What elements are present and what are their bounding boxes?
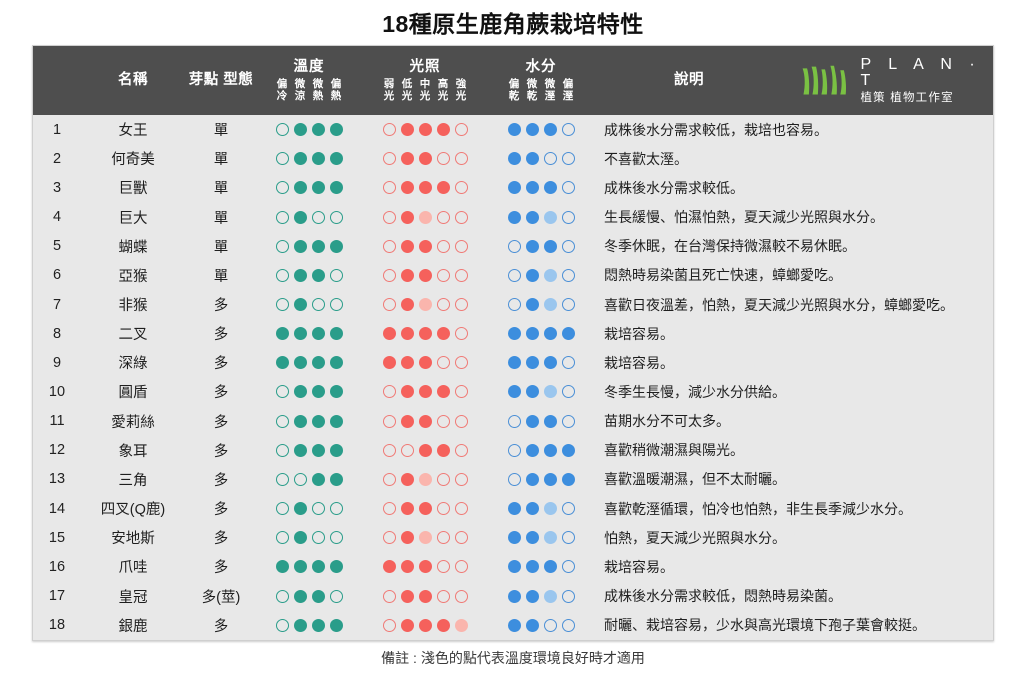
temp-dot-1-empty bbox=[276, 298, 289, 311]
row-description: 悶熱時易染菌且死亡快速，蟑螂愛吃。 bbox=[593, 261, 993, 290]
light-dot-2-full bbox=[401, 619, 414, 632]
water-dot-1-empty bbox=[508, 473, 521, 486]
water-rating bbox=[489, 202, 593, 231]
row-description: 成株後水分需求較低。 bbox=[593, 173, 993, 202]
temp-dot-4-full bbox=[330, 181, 343, 194]
light-rating bbox=[361, 465, 489, 494]
water-dot-2-full bbox=[526, 444, 539, 457]
table-row[interactable]: 1女王單成株後水分需求較低，栽培也容易。 bbox=[33, 115, 993, 144]
light-rating bbox=[361, 232, 489, 261]
water-rating bbox=[489, 290, 593, 319]
light-rating bbox=[361, 115, 489, 144]
water-dot-4-empty bbox=[562, 123, 575, 136]
row-description: 成株後水分需求較低，栽培也容易。 bbox=[593, 115, 993, 144]
light-rating bbox=[361, 611, 489, 640]
water-dot-2-full bbox=[526, 473, 539, 486]
water-dot-2-full bbox=[526, 298, 539, 311]
table-row[interactable]: 17皇冠多(莖)成株後水分需求較低，悶熱時易染菌。 bbox=[33, 582, 993, 611]
light-dot-5-empty bbox=[455, 531, 468, 544]
table-row[interactable]: 4巨大單生長緩慢、怕濕怕熱，夏天減少光照與水分。 bbox=[33, 202, 993, 231]
light-dot-4-empty bbox=[437, 590, 450, 603]
row-description: 栽培容易。 bbox=[593, 319, 993, 348]
water-rating bbox=[489, 144, 593, 173]
row-description: 不喜歡太溼。 bbox=[593, 144, 993, 173]
row-description: 喜歡溫暖潮濕，但不太耐曬。 bbox=[593, 465, 993, 494]
row-index: 4 bbox=[33, 202, 81, 231]
water-dot-4-full bbox=[562, 473, 575, 486]
row-species-name: 女王 bbox=[81, 115, 185, 144]
row-species-name: 蝴蝶 bbox=[81, 232, 185, 261]
light-dot-5-empty bbox=[455, 298, 468, 311]
row-species-name: 亞猴 bbox=[81, 261, 185, 290]
row-bud-type: 多 bbox=[185, 348, 257, 377]
water-dot-4-empty bbox=[562, 415, 575, 428]
row-description: 栽培容易。 bbox=[593, 552, 993, 581]
row-species-name: 非猴 bbox=[81, 290, 185, 319]
row-description: 耐曬、栽培容易，少水與高光環境下孢子葉會較挺。 bbox=[593, 611, 993, 640]
water-dot-4-full bbox=[562, 327, 575, 340]
temp-dot-2-full bbox=[294, 560, 307, 573]
light-dot-3-pale bbox=[419, 211, 432, 224]
logo-subtitle: 植策 植物工作室 bbox=[860, 93, 993, 105]
temp-dot-3-full bbox=[312, 473, 325, 486]
light-dot-5-empty bbox=[455, 269, 468, 282]
light-dot-2-full bbox=[401, 590, 414, 603]
light-dot-4-full bbox=[437, 123, 450, 136]
temp-dot-4-empty bbox=[330, 269, 343, 282]
header-temperature: 溫度 偏冷微涼微熱偏熱 bbox=[257, 46, 361, 115]
light-dot-2-full bbox=[401, 181, 414, 194]
row-index: 16 bbox=[33, 552, 81, 581]
temp-dot-1-empty bbox=[276, 211, 289, 224]
water-dot-4-empty bbox=[562, 531, 575, 544]
temp-dot-2-full bbox=[294, 181, 307, 194]
table-row[interactable]: 11愛莉絲多苗期水分不可太多。 bbox=[33, 407, 993, 436]
header-light: 光照 弱光低光中光高光強光 bbox=[361, 46, 489, 115]
row-species-name: 銀鹿 bbox=[81, 611, 185, 640]
temp-dot-3-empty bbox=[312, 298, 325, 311]
light-dot-1-empty bbox=[383, 269, 396, 282]
header-light-label: 光照 bbox=[361, 55, 489, 76]
sublabel-1: 微涼 bbox=[291, 79, 309, 103]
table-row[interactable]: 15安地斯多怕熱，夏天減少光照與水分。 bbox=[33, 523, 993, 552]
water-dot-1-full bbox=[508, 385, 521, 398]
temp-dot-2-full bbox=[294, 444, 307, 457]
row-species-name: 巨獸 bbox=[81, 173, 185, 202]
light-dot-3-full bbox=[419, 590, 432, 603]
temp-dot-1-empty bbox=[276, 531, 289, 544]
table-row[interactable]: 12象耳多喜歡稍微潮濕與陽光。 bbox=[33, 436, 993, 465]
light-dot-3-full bbox=[419, 385, 432, 398]
row-bud-type: 多 bbox=[185, 407, 257, 436]
table-row[interactable]: 7非猴多喜歡日夜溫差，怕熱，夏天減少光照與水分，蟑螂愛吃。 bbox=[33, 290, 993, 319]
light-dot-3-full bbox=[419, 327, 432, 340]
header-temperature-sublabels: 偏冷微涼微熱偏熱 bbox=[257, 79, 361, 103]
header-water-sublabels: 偏乾微乾微溼偏溼 bbox=[489, 79, 593, 103]
water-dot-3-pale bbox=[544, 211, 557, 224]
water-dot-1-full bbox=[508, 560, 521, 573]
water-dot-3-pale bbox=[544, 502, 557, 515]
temp-rating bbox=[257, 144, 361, 173]
table-row[interactable]: 9深綠多栽培容易。 bbox=[33, 348, 993, 377]
light-dot-5-empty bbox=[455, 123, 468, 136]
water-dot-2-full bbox=[526, 327, 539, 340]
temp-rating bbox=[257, 582, 361, 611]
temp-dot-1-empty bbox=[276, 590, 289, 603]
row-species-name: 愛莉絲 bbox=[81, 407, 185, 436]
temp-dot-3-full bbox=[312, 560, 325, 573]
water-dot-2-full bbox=[526, 269, 539, 282]
water-dot-1-full bbox=[508, 356, 521, 369]
water-dot-4-empty bbox=[562, 298, 575, 311]
temp-rating bbox=[257, 611, 361, 640]
water-rating bbox=[489, 407, 593, 436]
temp-dot-4-full bbox=[330, 415, 343, 428]
light-rating bbox=[361, 290, 489, 319]
light-dot-5-empty bbox=[455, 240, 468, 253]
light-dot-4-empty bbox=[437, 560, 450, 573]
temp-dot-2-full bbox=[294, 502, 307, 515]
row-bud-type: 多 bbox=[185, 523, 257, 552]
table-row[interactable]: 2何奇美單不喜歡太溼。 bbox=[33, 144, 993, 173]
light-dot-1-empty bbox=[383, 415, 396, 428]
water-dot-1-full bbox=[508, 619, 521, 632]
header-name: 名稱 bbox=[81, 46, 185, 115]
light-dot-2-full bbox=[401, 211, 414, 224]
page-title: 18種原生鹿角蕨栽培特性 bbox=[0, 0, 1026, 42]
water-dot-4-empty bbox=[562, 560, 575, 573]
water-dot-2-full bbox=[526, 619, 539, 632]
sublabel-2: 中光 bbox=[416, 79, 434, 103]
temp-dot-1-empty bbox=[276, 152, 289, 165]
row-index: 14 bbox=[33, 494, 81, 523]
temp-dot-4-full bbox=[330, 473, 343, 486]
sublabel-2: 微熱 bbox=[309, 79, 327, 103]
light-dot-1-empty bbox=[383, 473, 396, 486]
water-dot-1-full bbox=[508, 327, 521, 340]
temp-rating bbox=[257, 523, 361, 552]
water-dot-2-full bbox=[526, 385, 539, 398]
table-row[interactable]: 10圓盾多冬季生長慢，減少水分供給。 bbox=[33, 377, 993, 406]
water-dot-1-full bbox=[508, 531, 521, 544]
light-dot-2-full bbox=[401, 502, 414, 515]
table-row[interactable]: 18銀鹿多耐曬、栽培容易，少水與高光環境下孢子葉會較挺。 bbox=[33, 611, 993, 640]
row-index: 12 bbox=[33, 436, 81, 465]
row-species-name: 爪哇 bbox=[81, 552, 185, 581]
temp-dot-3-full bbox=[312, 123, 325, 136]
table-row[interactable]: 14四叉(Q鹿)多喜歡乾溼循環，怕冷也怕熱，非生長季減少水分。 bbox=[33, 494, 993, 523]
water-dot-2-full bbox=[526, 415, 539, 428]
row-description: 喜歡乾溼循環，怕冷也怕熱，非生長季減少水分。 bbox=[593, 494, 993, 523]
temp-rating bbox=[257, 115, 361, 144]
water-dot-2-full bbox=[526, 356, 539, 369]
temp-dot-4-full bbox=[330, 619, 343, 632]
table-row[interactable]: 16爪哇多栽培容易。 bbox=[33, 552, 993, 581]
light-dot-2-full bbox=[401, 356, 414, 369]
light-dot-5-empty bbox=[455, 560, 468, 573]
water-dot-3-full bbox=[544, 473, 557, 486]
water-dot-1-full bbox=[508, 590, 521, 603]
light-dot-1-empty bbox=[383, 211, 396, 224]
temp-rating bbox=[257, 348, 361, 377]
water-dot-2-full bbox=[526, 531, 539, 544]
water-dot-4-empty bbox=[562, 619, 575, 632]
row-bud-type: 單 bbox=[185, 173, 257, 202]
temp-rating bbox=[257, 290, 361, 319]
temp-dot-2-full bbox=[294, 298, 307, 311]
light-dot-1-empty bbox=[383, 240, 396, 253]
temp-dot-4-full bbox=[330, 123, 343, 136]
temp-rating bbox=[257, 377, 361, 406]
row-bud-type: 多 bbox=[185, 319, 257, 348]
light-dot-1-full bbox=[383, 356, 396, 369]
temp-dot-4-empty bbox=[330, 298, 343, 311]
row-species-name: 巨大 bbox=[81, 202, 185, 231]
row-index: 15 bbox=[33, 523, 81, 552]
light-dot-4-full bbox=[437, 181, 450, 194]
light-dot-5-empty bbox=[455, 415, 468, 428]
light-dot-4-empty bbox=[437, 211, 450, 224]
light-dot-1-empty bbox=[383, 531, 396, 544]
row-species-name: 皇冠 bbox=[81, 582, 185, 611]
water-dot-4-empty bbox=[562, 240, 575, 253]
sublabel-1: 微乾 bbox=[523, 79, 541, 103]
temp-dot-2-full bbox=[294, 415, 307, 428]
row-description: 冬季休眠，在台灣保持微濕較不易休眠。 bbox=[593, 232, 993, 261]
temp-dot-3-full bbox=[312, 415, 325, 428]
light-dot-1-full bbox=[383, 560, 396, 573]
water-dot-1-full bbox=[508, 181, 521, 194]
light-rating bbox=[361, 261, 489, 290]
temp-dot-3-full bbox=[312, 269, 325, 282]
temp-dot-4-empty bbox=[330, 590, 343, 603]
table-row[interactable]: 8二叉多栽培容易。 bbox=[33, 319, 993, 348]
temp-dot-2-full bbox=[294, 240, 307, 253]
water-dot-3-pale bbox=[544, 269, 557, 282]
brand-logo: P L A N · T 植策 植物工作室 bbox=[785, 46, 993, 115]
water-dot-2-full bbox=[526, 211, 539, 224]
row-description: 成株後水分需求較低，悶熱時易染菌。 bbox=[593, 582, 993, 611]
row-species-name: 四叉(Q鹿) bbox=[81, 494, 185, 523]
water-dot-4-empty bbox=[562, 356, 575, 369]
temp-dot-4-empty bbox=[330, 211, 343, 224]
header-name-label: 名稱 bbox=[118, 71, 148, 89]
row-description: 栽培容易。 bbox=[593, 348, 993, 377]
row-index: 11 bbox=[33, 407, 81, 436]
temp-dot-1-full bbox=[276, 356, 289, 369]
table-row[interactable]: 3巨獸單成株後水分需求較低。 bbox=[33, 173, 993, 202]
water-dot-3-full bbox=[544, 240, 557, 253]
row-index: 3 bbox=[33, 173, 81, 202]
light-dot-1-full bbox=[383, 327, 396, 340]
row-index: 10 bbox=[33, 377, 81, 406]
row-index: 17 bbox=[33, 582, 81, 611]
light-dot-2-full bbox=[401, 560, 414, 573]
row-description: 喜歡日夜溫差，怕熱，夏天減少光照與水分，蟑螂愛吃。 bbox=[593, 290, 993, 319]
light-dot-2-full bbox=[401, 473, 414, 486]
water-rating bbox=[489, 436, 593, 465]
row-description: 生長緩慢、怕濕怕熱，夏天減少光照與水分。 bbox=[593, 202, 993, 231]
light-dot-3-full bbox=[419, 619, 432, 632]
water-rating bbox=[489, 115, 593, 144]
sublabel-4: 強光 bbox=[452, 79, 470, 103]
light-rating bbox=[361, 173, 489, 202]
temp-dot-3-full bbox=[312, 385, 325, 398]
water-dot-3-pale bbox=[544, 298, 557, 311]
temp-dot-1-empty bbox=[276, 240, 289, 253]
temp-dot-3-full bbox=[312, 327, 325, 340]
temp-dot-2-full bbox=[294, 590, 307, 603]
water-dot-1-full bbox=[508, 123, 521, 136]
light-rating bbox=[361, 377, 489, 406]
temp-rating bbox=[257, 436, 361, 465]
header-bud-line1: 芽點 bbox=[189, 72, 219, 88]
temp-rating bbox=[257, 319, 361, 348]
temp-dot-1-empty bbox=[276, 269, 289, 282]
light-rating bbox=[361, 407, 489, 436]
water-rating bbox=[489, 261, 593, 290]
header-bud-line2: 型態 bbox=[223, 72, 253, 88]
temp-dot-2-full bbox=[294, 619, 307, 632]
water-rating bbox=[489, 611, 593, 640]
header-description: 說明 bbox=[593, 46, 785, 115]
temp-dot-4-full bbox=[330, 560, 343, 573]
row-bud-type: 單 bbox=[185, 115, 257, 144]
row-bud-type: 多 bbox=[185, 552, 257, 581]
light-dot-5-empty bbox=[455, 181, 468, 194]
temp-dot-2-full bbox=[294, 356, 307, 369]
sublabel-0: 弱光 bbox=[380, 79, 398, 103]
light-dot-2-full bbox=[401, 152, 414, 165]
temp-dot-2-full bbox=[294, 211, 307, 224]
row-description: 喜歡稍微潮濕與陽光。 bbox=[593, 436, 993, 465]
light-dot-2-full bbox=[401, 531, 414, 544]
temp-dot-4-full bbox=[330, 152, 343, 165]
light-rating bbox=[361, 319, 489, 348]
temp-dot-2-full bbox=[294, 531, 307, 544]
water-dot-2-full bbox=[526, 590, 539, 603]
temp-dot-4-empty bbox=[330, 531, 343, 544]
water-rating bbox=[489, 348, 593, 377]
water-dot-4-empty bbox=[562, 502, 575, 515]
temp-dot-3-empty bbox=[312, 211, 325, 224]
light-dot-5-empty bbox=[455, 152, 468, 165]
water-dot-4-empty bbox=[562, 211, 575, 224]
table-header-row: 名稱 芽點 型態 溫度 偏冷微涼微熱偏熱 光照 弱光低光中光高光強光 bbox=[33, 46, 993, 115]
temp-dot-1-empty bbox=[276, 181, 289, 194]
light-dot-5-empty bbox=[455, 444, 468, 457]
temp-dot-3-full bbox=[312, 240, 325, 253]
light-dot-3-full bbox=[419, 356, 432, 369]
water-dot-1-empty bbox=[508, 269, 521, 282]
water-rating bbox=[489, 465, 593, 494]
water-dot-1-empty bbox=[508, 298, 521, 311]
row-index: 5 bbox=[33, 232, 81, 261]
light-dot-3-full bbox=[419, 560, 432, 573]
temp-rating bbox=[257, 232, 361, 261]
light-dot-4-empty bbox=[437, 473, 450, 486]
temp-dot-2-full bbox=[294, 152, 307, 165]
water-dot-3-pale bbox=[544, 531, 557, 544]
row-species-name: 三角 bbox=[81, 465, 185, 494]
water-dot-1-full bbox=[508, 502, 521, 515]
water-rating bbox=[489, 377, 593, 406]
row-index: 18 bbox=[33, 611, 81, 640]
light-rating bbox=[361, 202, 489, 231]
water-dot-3-pale bbox=[544, 590, 557, 603]
light-dot-5-empty bbox=[455, 385, 468, 398]
row-species-name: 安地斯 bbox=[81, 523, 185, 552]
temp-dot-1-full bbox=[276, 327, 289, 340]
temp-dot-1-empty bbox=[276, 385, 289, 398]
temp-dot-3-full bbox=[312, 590, 325, 603]
water-dot-4-empty bbox=[562, 590, 575, 603]
water-dot-4-empty bbox=[562, 152, 575, 165]
temp-dot-1-empty bbox=[276, 473, 289, 486]
light-dot-3-pale bbox=[419, 473, 432, 486]
water-dot-4-empty bbox=[562, 181, 575, 194]
temp-rating bbox=[257, 173, 361, 202]
temp-rating bbox=[257, 407, 361, 436]
water-rating bbox=[489, 494, 593, 523]
table-row[interactable]: 5蝴蝶單冬季休眠，在台灣保持微濕較不易休眠。 bbox=[33, 232, 993, 261]
water-rating bbox=[489, 173, 593, 202]
temp-rating bbox=[257, 552, 361, 581]
header-water-label: 水分 bbox=[489, 55, 593, 76]
light-dot-5-empty bbox=[455, 327, 468, 340]
light-rating bbox=[361, 144, 489, 173]
light-dot-5-empty bbox=[455, 211, 468, 224]
row-bud-type: 多(莖) bbox=[185, 582, 257, 611]
water-dot-1-empty bbox=[508, 415, 521, 428]
sublabel-1: 低光 bbox=[398, 79, 416, 103]
light-dot-4-empty bbox=[437, 152, 450, 165]
table-row[interactable]: 6亞猴單悶熱時易染菌且死亡快速，蟑螂愛吃。 bbox=[33, 261, 993, 290]
light-dot-3-full bbox=[419, 181, 432, 194]
row-index: 9 bbox=[33, 348, 81, 377]
temp-dot-3-empty bbox=[312, 531, 325, 544]
temp-dot-2-full bbox=[294, 269, 307, 282]
row-species-name: 象耳 bbox=[81, 436, 185, 465]
row-species-name: 圓盾 bbox=[81, 377, 185, 406]
water-dot-3-full bbox=[544, 327, 557, 340]
row-index: 13 bbox=[33, 465, 81, 494]
temp-dot-2-full bbox=[294, 327, 307, 340]
water-rating bbox=[489, 319, 593, 348]
light-dot-5-empty bbox=[455, 502, 468, 515]
temp-dot-1-empty bbox=[276, 415, 289, 428]
water-dot-3-full bbox=[544, 123, 557, 136]
water-dot-2-full bbox=[526, 123, 539, 136]
light-dot-5-empty bbox=[455, 356, 468, 369]
header-temperature-label: 溫度 bbox=[257, 55, 361, 76]
light-dot-1-empty bbox=[383, 385, 396, 398]
light-dot-3-full bbox=[419, 123, 432, 136]
light-dot-3-full bbox=[419, 444, 432, 457]
row-index: 2 bbox=[33, 144, 81, 173]
water-dot-3-full bbox=[544, 415, 557, 428]
table-row[interactable]: 13三角多喜歡溫暖潮濕，但不太耐曬。 bbox=[33, 465, 993, 494]
temp-dot-4-full bbox=[330, 385, 343, 398]
row-bud-type: 多 bbox=[185, 611, 257, 640]
light-rating bbox=[361, 348, 489, 377]
row-bud-type: 單 bbox=[185, 144, 257, 173]
light-dot-3-full bbox=[419, 269, 432, 282]
water-dot-2-full bbox=[526, 560, 539, 573]
water-dot-4-full bbox=[562, 444, 575, 457]
temp-dot-3-full bbox=[312, 444, 325, 457]
temp-dot-1-empty bbox=[276, 123, 289, 136]
